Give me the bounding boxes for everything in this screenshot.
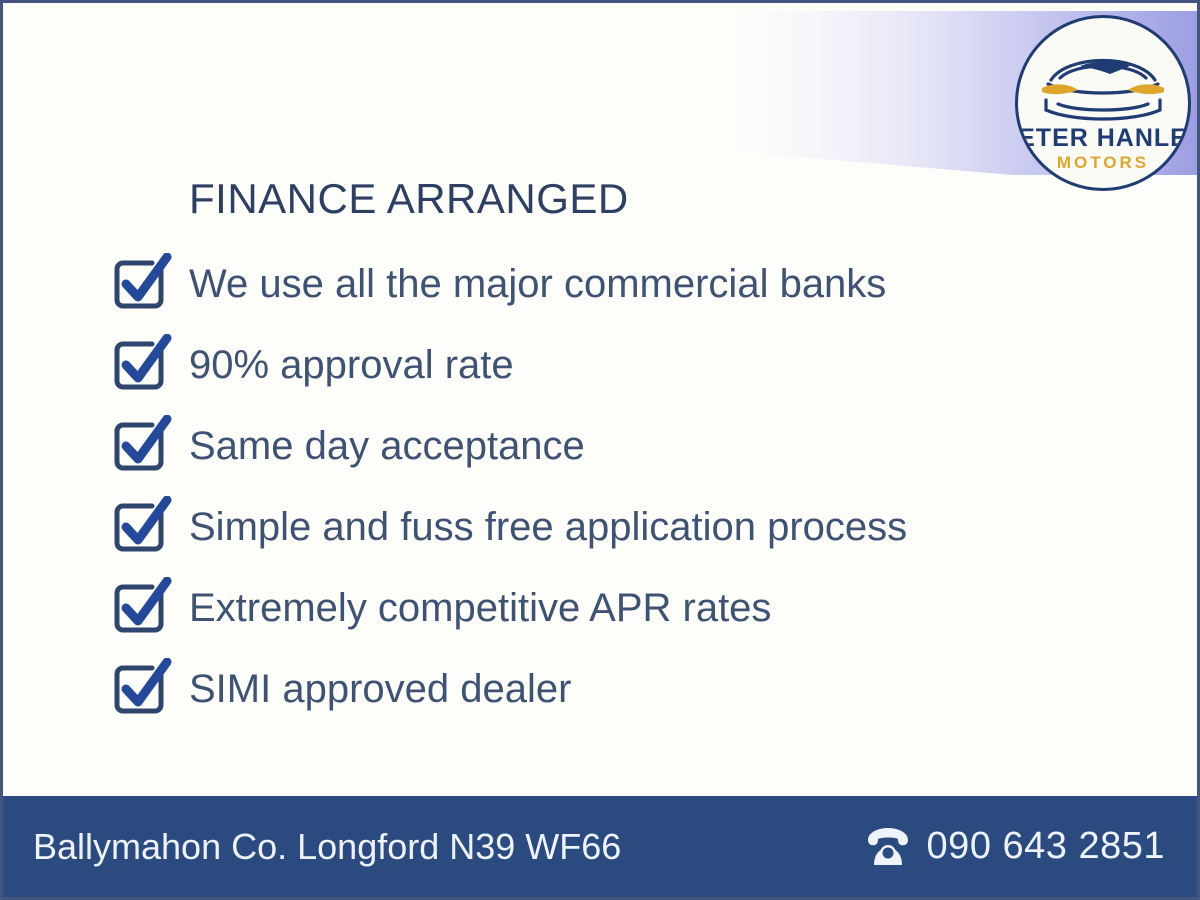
checkbox-checked-icon <box>109 253 175 315</box>
benefits-list: We use all the major commercial banks 90… <box>109 243 1109 729</box>
checkbox-checked-icon <box>109 577 175 639</box>
list-item: SIMI approved dealer <box>109 648 1109 729</box>
list-item-label: Simple and fuss free application process <box>189 507 907 547</box>
logo-brand-name: PETER HANLEY <box>1018 124 1188 152</box>
list-item-label: Same day acceptance <box>189 426 585 466</box>
contact-footer-bar: Ballymahon Co. Longford N39 WF66 090 643… <box>3 796 1197 897</box>
promo-card: PETER HANLEY MOTORS FINANCE ARRANGED We … <box>0 0 1200 900</box>
list-item-label: Extremely competitive APR rates <box>189 588 771 628</box>
list-item-label: 90% approval rate <box>189 345 514 385</box>
brand-logo-badge: PETER HANLEY MOTORS <box>1015 15 1191 191</box>
list-item: Extremely competitive APR rates <box>109 567 1109 648</box>
address-text: Ballymahon Co. Longford N39 WF66 <box>33 826 621 868</box>
logo-brand-sub: MOTORS <box>1057 153 1149 172</box>
car-logo-icon: PETER HANLEY MOTORS <box>1018 18 1188 188</box>
list-item-label: SIMI approved dealer <box>189 669 571 709</box>
checkbox-checked-icon <box>109 658 175 720</box>
telephone-icon <box>865 827 911 867</box>
list-item: Same day acceptance <box>109 405 1109 486</box>
page-title: FINANCE ARRANGED <box>189 175 629 223</box>
phone-contact[interactable]: 090 643 2851 <box>865 825 1165 868</box>
list-item: 90% approval rate <box>109 324 1109 405</box>
checkbox-checked-icon <box>109 496 175 558</box>
list-item: We use all the major commercial banks <box>109 243 1109 324</box>
checkbox-checked-icon <box>109 415 175 477</box>
list-item: Simple and fuss free application process <box>109 486 1109 567</box>
phone-number: 090 643 2851 <box>927 825 1165 868</box>
checkbox-checked-icon <box>109 334 175 396</box>
list-item-label: We use all the major commercial banks <box>189 264 886 304</box>
